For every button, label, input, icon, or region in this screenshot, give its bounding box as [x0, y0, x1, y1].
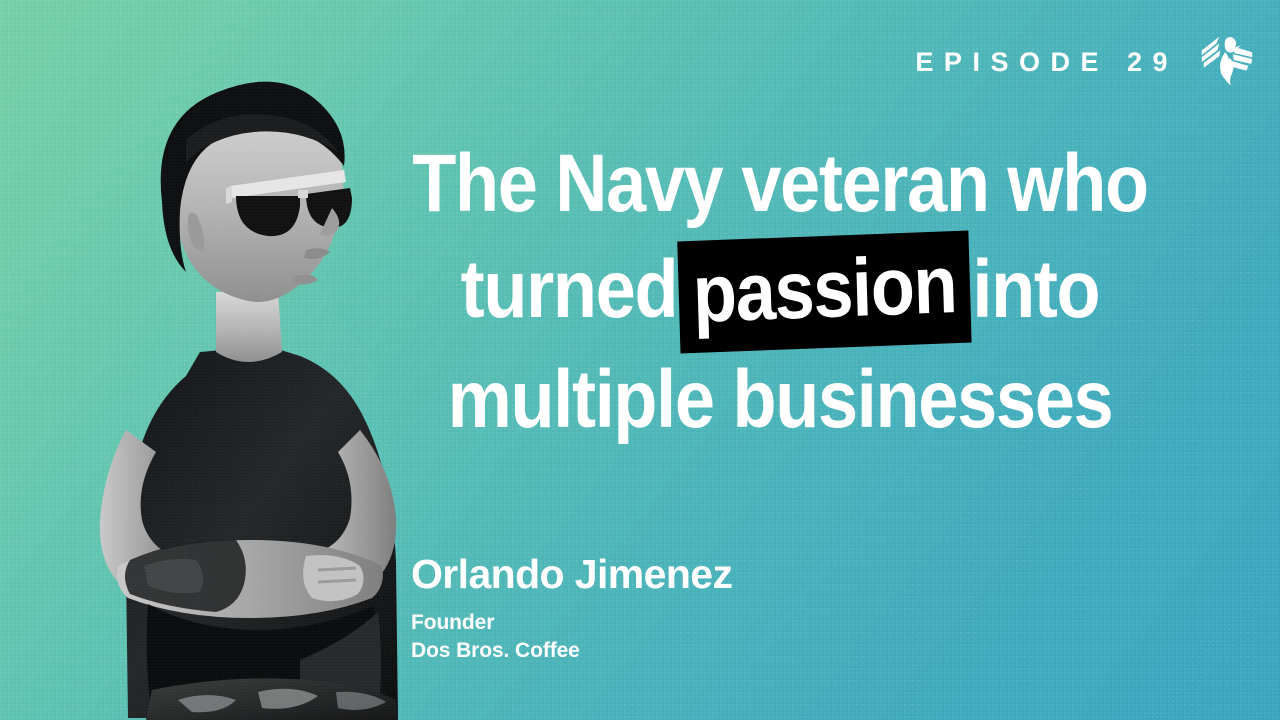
guest-name: Orlando Jimenez	[411, 553, 732, 596]
phoenix-bird-icon	[1196, 29, 1258, 91]
headline-highlight-passion: passion	[677, 231, 972, 354]
guest-role: Founder	[411, 609, 732, 637]
episode-header: EPISODE 29	[905, 33, 1258, 91]
episode-label: EPISODE 29	[905, 49, 1178, 76]
headline-line-2-after: into	[972, 244, 1099, 335]
guest-info-block: Orlando Jimenez Founder Dos Bros. Coffee	[411, 553, 732, 666]
headline-line-3: multiple businesses	[384, 348, 1176, 452]
episode-headline: The Navy veteran who turnedpassioninto m…	[384, 132, 1176, 452]
guest-company: Dos Bros. Coffee	[411, 637, 732, 665]
headline-line-1: The Navy veteran who	[384, 132, 1176, 236]
headline-line-2-before: turned	[461, 244, 678, 335]
guest-portrait-photo	[0, 0, 420, 720]
headline-line-2: turnedpassioninto	[461, 236, 1100, 348]
episode-cover-card: EPISODE 29 The Navy veteran who turnedpa…	[0, 0, 1280, 720]
